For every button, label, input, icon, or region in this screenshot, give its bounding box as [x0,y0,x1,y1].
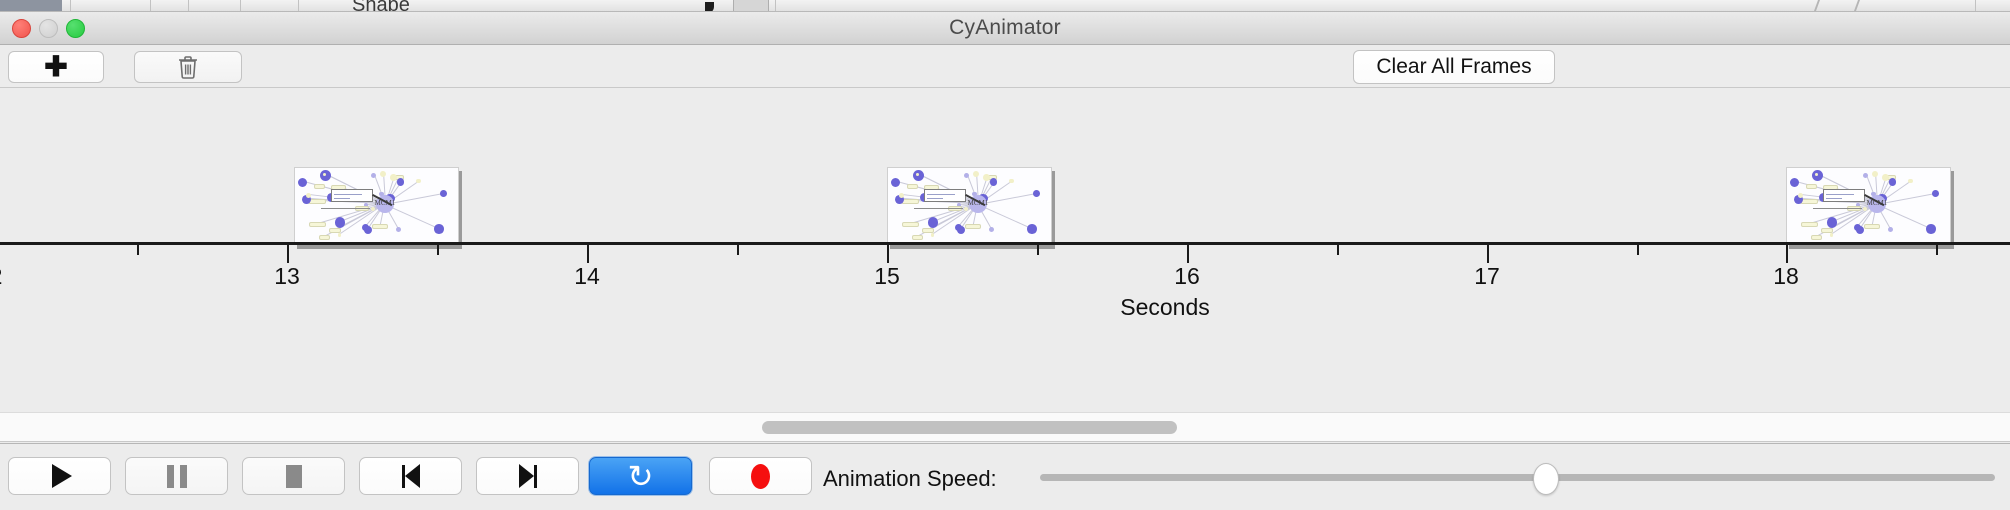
axis-tick-major [587,244,589,263]
pause-icon [167,465,187,488]
network-thumbnail: MCM1 [1787,168,1950,244]
network-node [1908,179,1913,184]
network-node [983,174,990,181]
record-icon [751,464,770,489]
network-node [902,222,919,227]
axis-tick-minor [1936,244,1938,255]
network-node [380,171,386,177]
network-node [434,224,443,233]
network-node [922,228,933,233]
add-frame-button[interactable]: ✚ [8,51,104,83]
background-app-strip: Shape [0,0,2010,12]
axis-tick-label: 18 [1773,263,1799,290]
network-node [329,228,340,233]
axis-tick-major [1786,244,1788,263]
network-node [390,174,397,181]
timeline-scrollbar-thumb[interactable] [762,421,1177,434]
network-node [319,235,330,240]
network-node [1800,199,1818,204]
network-node [440,190,447,197]
stop-button[interactable] [242,457,345,495]
network-node [1806,184,1817,189]
network-node [1827,217,1837,227]
network-node [1801,222,1818,227]
background-strip-segment [150,0,188,11]
title-bar: CyAnimator [0,12,2010,45]
network-node [396,227,401,232]
close-button[interactable] [12,19,31,38]
play-icon [52,464,72,488]
network-node [1882,174,1889,181]
axis-tick-label: 14 [574,263,600,290]
network-annotation-line [1826,198,1842,199]
network-node [1009,179,1014,184]
plus-icon: ✚ [44,53,67,81]
trash-icon [176,53,200,81]
network-annotation-box [924,189,966,202]
animation-speed-slider[interactable] [1040,474,1995,481]
frame-thumbnail[interactable]: MCM1 [887,167,1052,245]
network-thumbnail: MCM1 [888,168,1051,244]
network-node [372,224,388,229]
network-node [1932,190,1939,197]
clear-all-frames-button[interactable]: Clear All Frames [1353,50,1555,84]
network-node [931,233,934,236]
axis-tick-major [1487,244,1489,263]
axis-tick-minor [137,244,139,255]
axis-tick-minor [437,244,439,255]
network-annotation-line [927,198,943,199]
record-button[interactable] [709,457,812,495]
network-thumbnail: MCM1 [295,168,458,244]
frame-thumbnail[interactable]: MCM1 [1786,167,1951,245]
network-node [1830,233,1833,236]
network-node [1888,227,1893,232]
background-strip-segment [775,0,1895,11]
network-node [912,235,923,240]
network-annotation-line [1826,194,1854,195]
window-title: CyAnimator [949,16,1061,40]
network-node [990,178,998,186]
axis-tick-label: 2 [0,263,2,290]
network-node [1790,178,1799,187]
network-caption-line [321,208,370,209]
network-annotation-line [334,198,350,199]
play-button[interactable] [8,457,111,495]
network-node [1864,224,1880,229]
network-node [1889,178,1897,186]
axis-caption: Seconds [1120,294,1210,321]
background-strip-segment [298,0,342,11]
background-strip-marker [705,2,714,12]
frame-thumbnail[interactable]: MCM1 [294,167,459,245]
network-node [1856,226,1864,234]
background-strip-highlight [0,0,62,11]
network-node [957,226,965,234]
playback-control-bar: ↻ Animation Speed: [0,443,2010,510]
network-node [397,178,405,186]
network-node [973,171,979,177]
minimize-button[interactable] [39,19,58,38]
network-node [1872,171,1878,177]
background-strip-segment [70,0,150,11]
animation-speed-slider-thumb[interactable] [1533,463,1559,495]
loop-button[interactable]: ↻ [589,457,692,495]
network-node [1027,224,1036,233]
axis-tick-minor [1637,244,1639,255]
axis-tick-label: 15 [874,263,900,290]
background-app-label: Shape [352,0,410,12]
network-node [338,233,341,236]
network-node [314,184,325,189]
loop-icon: ↻ [628,461,654,492]
network-node [1811,235,1822,240]
network-annotation-box [1823,189,1865,202]
network-node [891,178,900,187]
network-node [335,217,345,227]
network-node [309,222,326,227]
axis-tick-label: 13 [274,263,300,290]
network-node [989,227,994,232]
axis-tick-major [287,244,289,263]
background-strip-segment [1975,0,2010,11]
background-strip-box [733,0,769,11]
network-annotation-line [334,194,362,195]
skip-forward-icon [519,464,537,488]
network-caption-line [914,208,963,209]
axis-tick-label: 16 [1174,263,1200,290]
toolbar: ✚ Clear All Frames [0,46,2010,88]
stop-icon [286,465,302,488]
cyanimator-window: Shape CyAnimator ✚ Clear All Frames [0,0,2010,510]
network-node [965,224,981,229]
previous-frame-button[interactable] [359,457,462,495]
network-node [416,179,421,184]
network-node [308,199,326,204]
skip-back-icon [402,464,420,488]
network-node [901,199,919,204]
network-annotation-box [331,189,373,202]
axis-tick-major [1187,244,1189,263]
traffic-light-group [12,12,85,45]
network-node [364,226,372,234]
network-node [1821,228,1832,233]
zoom-button[interactable] [66,19,85,38]
delete-frame-button[interactable] [134,51,242,83]
background-strip-segment [240,0,298,11]
axis-tick-label: 17 [1474,263,1500,290]
background-strip-segment [188,0,240,11]
axis-tick-major [887,244,889,263]
timeline-panel[interactable]: MCM1MCM1MCM1 2131415161718 Seconds [0,89,2010,412]
next-frame-button[interactable] [476,457,579,495]
network-node [1926,224,1935,233]
network-node [1033,190,1040,197]
network-node [298,178,307,187]
axis-tick-minor [1037,244,1039,255]
animation-speed-label: Animation Speed: [823,466,997,492]
timeline-axis [0,242,2010,245]
axis-tick-minor [737,244,739,255]
network-node [928,217,938,227]
network-annotation-line [927,194,955,195]
pause-button[interactable] [125,457,228,495]
network-caption-line [1813,208,1862,209]
network-node [907,184,918,189]
timeline-scrollbar[interactable] [0,412,2010,442]
axis-tick-minor [1337,244,1339,255]
